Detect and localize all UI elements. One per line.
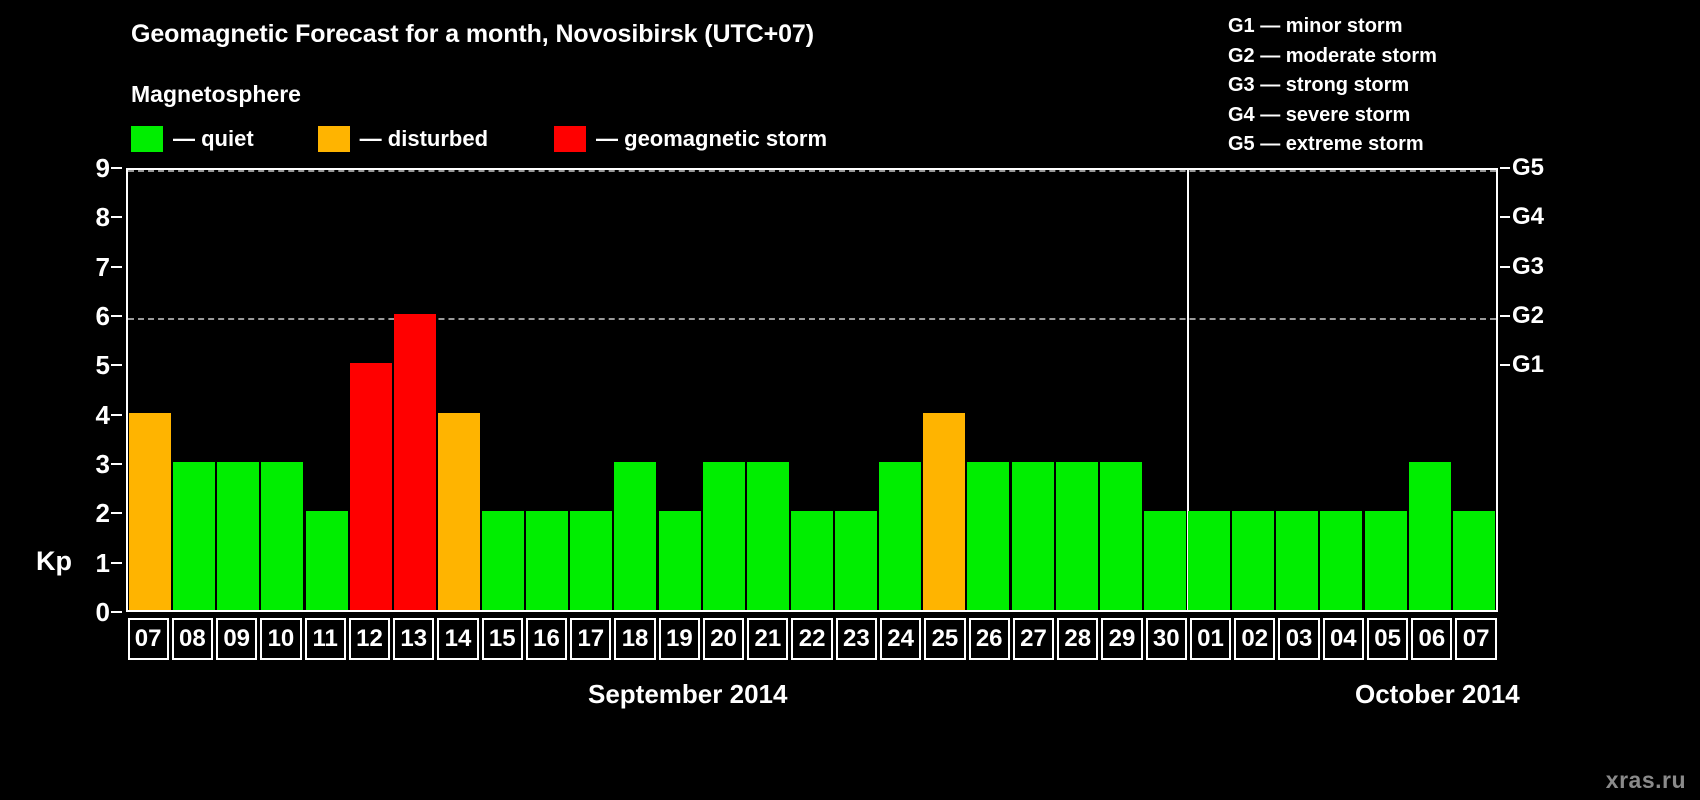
- y-tick-mark-2: [111, 512, 122, 514]
- day-label-sep-17: 17: [570, 618, 611, 660]
- bar-day-15: [482, 511, 524, 610]
- bar-cell: [966, 170, 1010, 610]
- bar-series: [128, 170, 1496, 610]
- bar-day-12: [350, 363, 392, 610]
- storm-scale-row-g2: G2 — moderate storm: [1228, 42, 1437, 72]
- bar-cell: [702, 170, 746, 610]
- y-tick-label-8: 8: [96, 204, 110, 230]
- bar-cell: [1452, 170, 1496, 610]
- bar-cell: [1408, 170, 1452, 610]
- y-tick-mark-4: [111, 414, 122, 416]
- legend-label-disturbed: — disturbed: [360, 126, 488, 152]
- day-label-sep-09: 09: [216, 618, 257, 660]
- bar-day-08: [173, 462, 215, 610]
- day-label-sep-20: 20: [703, 618, 744, 660]
- bar-cell: [481, 170, 525, 610]
- bar-cell: [569, 170, 613, 610]
- day-label-sep-28: 28: [1057, 618, 1098, 660]
- y-tick-mark-1: [111, 562, 122, 564]
- legend-label-storm: — geomagnetic storm: [596, 126, 827, 152]
- color-legend: — quiet — disturbed — geomagnetic storm: [131, 126, 827, 152]
- bar-cell: [172, 170, 216, 610]
- month-caption-october: October 2014: [1355, 679, 1520, 710]
- bar-day-23: [835, 511, 877, 610]
- day-label-sep-11: 11: [305, 618, 346, 660]
- y-tick-label-0: 0: [96, 599, 110, 625]
- bar-cell: [613, 170, 657, 610]
- day-label-sep-19: 19: [659, 618, 700, 660]
- day-label-sep-27: 27: [1013, 618, 1054, 660]
- g-tick-label-g4: G4: [1512, 203, 1544, 231]
- bar-day-11: [306, 511, 348, 610]
- y-tick-mark-9: [111, 167, 122, 169]
- g-tick-label-g1: G1: [1512, 351, 1544, 379]
- day-label-sep-13: 13: [393, 618, 434, 660]
- bar-cell: [746, 170, 790, 610]
- bar-cell: [128, 170, 172, 610]
- day-label-sep-15: 15: [482, 618, 523, 660]
- day-label-sep-29: 29: [1101, 618, 1142, 660]
- bar-cell: [525, 170, 569, 610]
- day-label-oct-04: 04: [1323, 618, 1364, 660]
- legend-item-storm: — geomagnetic storm: [554, 126, 827, 152]
- plot-area: [126, 168, 1498, 612]
- day-label-sep-08: 08: [172, 618, 213, 660]
- bar-cell: [1099, 170, 1143, 610]
- bar-cell: [393, 170, 437, 610]
- bar-day-18: [614, 462, 656, 610]
- bar-cell: [1187, 170, 1231, 610]
- g-tick-mark-g5: [1500, 167, 1510, 169]
- bar-cell: [790, 170, 834, 610]
- bar-day-16: [526, 511, 568, 610]
- y-axis: Kp 0123456789: [70, 168, 122, 612]
- page-title: Geomagnetic Forecast for a month, Novosi…: [131, 20, 814, 49]
- y-tick-mark-6: [111, 315, 122, 317]
- day-label-sep-26: 26: [969, 618, 1010, 660]
- y-tick-label-5: 5: [96, 352, 110, 378]
- geomagnetic-forecast-chart: Geomagnetic Forecast for a month, Novosi…: [0, 0, 1700, 800]
- bar-day-06: [1409, 462, 1451, 610]
- day-label-oct-06: 06: [1411, 618, 1452, 660]
- bar-day-20: [703, 462, 745, 610]
- g-tick-label-g3: G3: [1512, 253, 1544, 281]
- g-tick-mark-g4: [1500, 216, 1510, 218]
- disturbed-swatch-icon: [318, 126, 350, 152]
- bar-cell: [305, 170, 349, 610]
- g-tick-mark-g3: [1500, 266, 1510, 268]
- g-scale-axis: G1G2G3G4G5: [1500, 168, 1590, 612]
- bar-day-24: [879, 462, 921, 610]
- quiet-swatch-icon: [131, 126, 163, 152]
- bar-cell: [1319, 170, 1363, 610]
- magnetosphere-label: Magnetosphere: [131, 81, 301, 108]
- bar-cell: [1011, 170, 1055, 610]
- bar-day-07: [129, 413, 171, 610]
- day-label-oct-07: 07: [1455, 618, 1496, 660]
- y-tick-label-1: 1: [96, 550, 110, 576]
- bar-cell: [1364, 170, 1408, 610]
- y-tick-mark-3: [111, 463, 122, 465]
- y-tick-label-9: 9: [96, 155, 110, 181]
- storm-scale-row-g3: G3 — strong storm: [1228, 71, 1437, 101]
- watermark: xras.ru: [1606, 767, 1686, 794]
- bar-day-17: [570, 511, 612, 610]
- legend-label-quiet: — quiet: [173, 126, 254, 152]
- g-tick-label-g2: G2: [1512, 302, 1544, 330]
- bar-day-22: [791, 511, 833, 610]
- bar-cell: [1055, 170, 1099, 610]
- y-tick-label-4: 4: [96, 402, 110, 428]
- bar-day-07: [1453, 511, 1495, 610]
- bar-day-04: [1320, 511, 1362, 610]
- day-label-oct-03: 03: [1278, 618, 1319, 660]
- bar-day-27: [1012, 462, 1054, 610]
- bar-cell: [216, 170, 260, 610]
- bar-day-25: [923, 413, 965, 610]
- g-tick-label-g5: G5: [1512, 154, 1544, 182]
- storm-scale-row-g4: G4 — severe storm: [1228, 101, 1437, 131]
- y-tick-label-7: 7: [96, 254, 110, 280]
- bar-day-13: [394, 314, 436, 610]
- y-axis-label: Kp: [36, 546, 72, 577]
- bar-cell: [878, 170, 922, 610]
- bar-day-19: [659, 511, 701, 610]
- storm-scale-legend: G1 — minor stormG2 — moderate stormG3 — …: [1228, 12, 1437, 160]
- bar-day-30: [1144, 511, 1186, 610]
- day-label-sep-10: 10: [260, 618, 301, 660]
- bar-day-10: [261, 462, 303, 610]
- bar-day-01: [1188, 511, 1230, 610]
- bar-cell: [658, 170, 702, 610]
- bar-cell: [834, 170, 878, 610]
- day-label-sep-16: 16: [526, 618, 567, 660]
- day-label-sep-18: 18: [614, 618, 655, 660]
- bar-day-03: [1276, 511, 1318, 610]
- day-label-oct-02: 02: [1234, 618, 1275, 660]
- day-label-oct-01: 01: [1190, 618, 1231, 660]
- legend-item-quiet: — quiet: [131, 126, 254, 152]
- y-tick-label-3: 3: [96, 451, 110, 477]
- legend-item-disturbed: — disturbed: [318, 126, 488, 152]
- day-label-sep-21: 21: [747, 618, 788, 660]
- bar-cell: [922, 170, 966, 610]
- bar-cell: [1275, 170, 1319, 610]
- day-label-sep-14: 14: [437, 618, 478, 660]
- bar-cell: [1143, 170, 1187, 610]
- storm-scale-row-g5: G5 — extreme storm: [1228, 130, 1437, 160]
- day-label-sep-25: 25: [924, 618, 965, 660]
- geomagnetic-storm-swatch-icon: [554, 126, 586, 152]
- day-label-sep-22: 22: [791, 618, 832, 660]
- y-tick-mark-7: [111, 266, 122, 268]
- day-label-oct-05: 05: [1367, 618, 1408, 660]
- day-label-row: 0708091011121314151617181920212223242526…: [126, 618, 1498, 660]
- g-tick-mark-g2: [1500, 315, 1510, 317]
- day-label-sep-24: 24: [880, 618, 921, 660]
- y-tick-mark-8: [111, 216, 122, 218]
- bar-cell: [349, 170, 393, 610]
- month-caption-september: September 2014: [588, 679, 787, 710]
- bar-day-29: [1100, 462, 1142, 610]
- bar-day-26: [967, 462, 1009, 610]
- g-tick-mark-g1: [1500, 364, 1510, 366]
- bar-day-02: [1232, 511, 1274, 610]
- y-tick-label-6: 6: [96, 303, 110, 329]
- bar-day-21: [747, 462, 789, 610]
- y-tick-mark-0: [111, 611, 122, 613]
- bar-day-14: [438, 413, 480, 610]
- day-label-sep-12: 12: [349, 618, 390, 660]
- day-label-sep-07: 07: [128, 618, 169, 660]
- bar-cell: [260, 170, 304, 610]
- storm-scale-row-g1: G1 — minor storm: [1228, 12, 1437, 42]
- y-tick-mark-5: [111, 364, 122, 366]
- bar-day-28: [1056, 462, 1098, 610]
- bar-day-05: [1365, 511, 1407, 610]
- day-label-sep-30: 30: [1146, 618, 1187, 660]
- y-tick-label-2: 2: [96, 500, 110, 526]
- bar-cell: [437, 170, 481, 610]
- day-label-sep-23: 23: [836, 618, 877, 660]
- bar-day-09: [217, 462, 259, 610]
- bar-cell: [1231, 170, 1275, 610]
